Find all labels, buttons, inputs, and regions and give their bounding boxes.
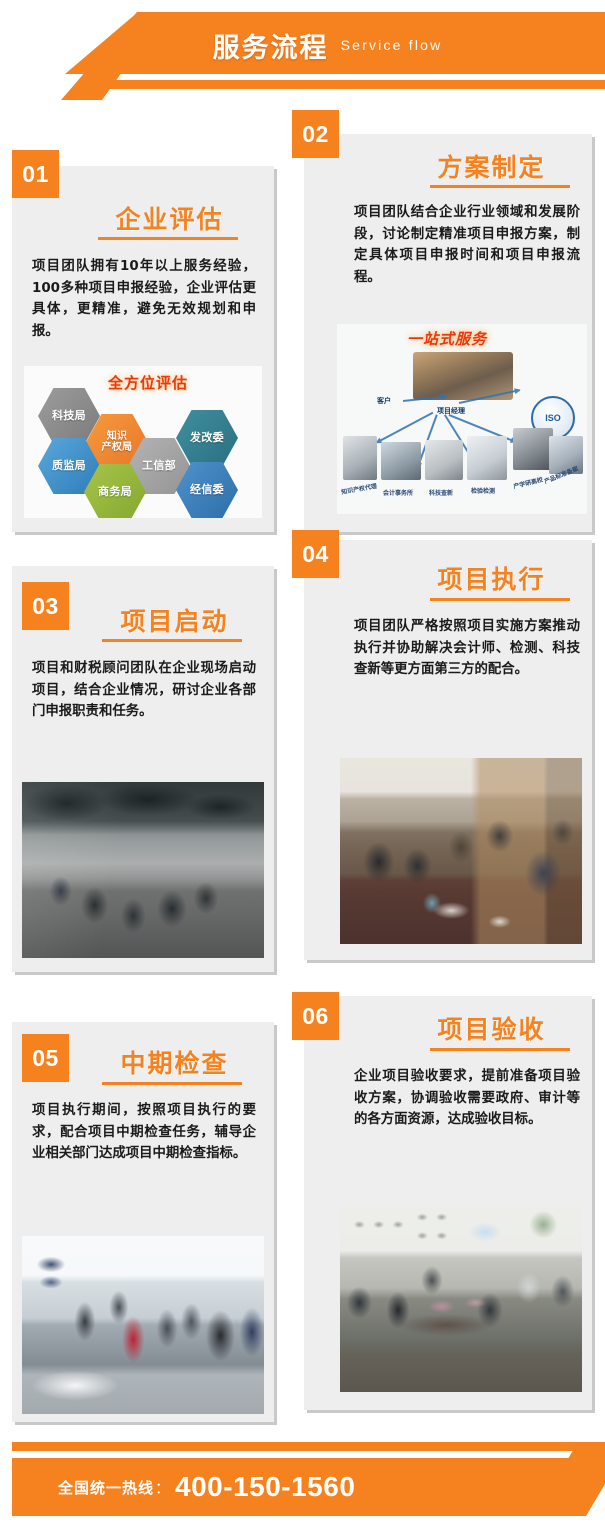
card-03[interactable]: 03 项目启动 项目和财税顾问团队在企业现场启动项目，结合企业情况，研讨企业各部… xyxy=(12,566,274,972)
card-02-title: 方案制定 xyxy=(404,148,579,184)
card-06-number-badge: 06 xyxy=(292,992,339,1040)
card-06-title: 项目验收 xyxy=(404,1010,579,1046)
cards-grid: 01 企业评估 项目团队拥有10年以上服务经验，100多种项目申报经验，企业评估… xyxy=(0,0,605,1538)
card-02-body: 项目团队结合企业行业领域和发展阶段，讨论制定精准项目申报方案，制定具体项目申报时… xyxy=(354,202,580,289)
hex-diagram: 全方位评估 科技局 知识产权局 发改委 质监局 工信部 商务局 经信委 xyxy=(24,366,262,518)
card-03-title-rule xyxy=(102,639,242,642)
card-06-body: 企业项目验收要求，提前准备项目验收方案，协调验收需要政府、审计等的各方面资源，达… xyxy=(354,1066,580,1131)
conference-room-meeting-photo xyxy=(22,782,264,958)
service-node-photo-1 xyxy=(343,436,377,480)
service-node-photo-2 xyxy=(381,442,421,480)
service-bottom-label-4: 检验检测 xyxy=(471,486,495,495)
footer-phone-number[interactable]: 400-150-1560 xyxy=(175,1471,355,1503)
service-node-photo-5 xyxy=(513,428,553,470)
card-04-number-badge: 04 xyxy=(292,530,339,578)
service-bottom-label-1: 知识产权代理 xyxy=(340,481,377,496)
service-bottom-label-2: 会计事务所 xyxy=(383,488,413,497)
card-02-title-rule xyxy=(430,185,570,188)
footer-thin-stripe xyxy=(12,1442,605,1451)
team-working-at-table-photo xyxy=(340,758,582,944)
card-03-body: 项目和财税顾问团队在企业现场启动项目，结合企业情况，研讨企业各部门申报职责和任务… xyxy=(32,658,256,723)
card-05-number-badge: 05 xyxy=(22,1034,69,1082)
footer-hotline-group: 全国统一热线 ： 400-150-1560 xyxy=(58,1458,355,1516)
card-04-body: 项目团队严格按照项目实施方案推动执行并协助解决会计师、检测、科技查新等更方面第三… xyxy=(354,616,580,681)
card-05-body: 项目执行期间，按照项目执行的要求，配合项目中期检查任务，辅导企业相关部门达成项目… xyxy=(32,1100,256,1165)
card-01-title-rule xyxy=(98,237,238,240)
card-01[interactable]: 01 企业评估 项目团队拥有10年以上服务经验，100多种项目申报经验，企业评估… xyxy=(12,166,274,532)
card-02[interactable]: 02 方案制定 项目团队结合企业行业领域和发展阶段，讨论制定精准项目申报方案，制… xyxy=(304,134,592,532)
card-02-number-badge: 02 xyxy=(292,110,339,158)
card-03-number-badge: 03 xyxy=(22,582,69,630)
card-04-title: 项目执行 xyxy=(404,560,579,596)
hex-diagram-title: 全方位评估 xyxy=(108,372,188,393)
service-diagram: 一站式服务 客户 项目经理 ISO xyxy=(337,324,587,514)
service-arrow-6 xyxy=(376,412,433,443)
boardroom-presentation-photo xyxy=(340,1206,582,1392)
service-bottom-label-3: 科技查新 xyxy=(429,488,453,497)
card-04[interactable]: 04 项目执行 项目团队严格按照项目实施方案推动执行并协助解决会计师、检测、科技… xyxy=(304,540,592,960)
service-bottom-label-5: 产学研高校 xyxy=(512,475,543,491)
service-node-photo-3 xyxy=(425,440,463,480)
card-05-title-rule xyxy=(102,1082,242,1085)
showroom-visit-photo xyxy=(22,1236,264,1414)
card-04-title-rule xyxy=(430,598,570,601)
footer-hotline-label: 全国统一热线 xyxy=(58,1477,154,1498)
card-05-title: 中期检查 xyxy=(82,1044,267,1080)
service-diagram-title: 一站式服务 xyxy=(407,328,487,349)
card-05[interactable]: 05 中期检查 项目执行期间，按照项目执行的要求，配合项目中期检查任务，辅导企业… xyxy=(12,1022,274,1422)
card-06[interactable]: 06 项目验收 企业项目验收要求，提前准备项目验收方案，协调验收需要政府、审计等… xyxy=(304,996,592,1410)
card-01-number-badge: 01 xyxy=(12,150,59,198)
card-01-title: 企业评估 xyxy=(72,200,267,236)
service-client-label: 客户 xyxy=(377,396,391,406)
infographic-page: 服务流程 Service flow 01 企业评估 项目团队拥有10年以上服务经… xyxy=(0,0,605,1538)
footer-separator: ： xyxy=(155,1477,170,1498)
card-03-title: 项目启动 xyxy=(82,602,267,638)
page-footer: 全国统一热线 ： 400-150-1560 xyxy=(0,1442,605,1538)
card-06-title-rule xyxy=(430,1048,570,1051)
card-01-body: 项目团队拥有10年以上服务经验，100多种项目申报经验，企业评估更具体，更精准，… xyxy=(32,256,256,343)
service-node-photo-4 xyxy=(467,436,507,480)
